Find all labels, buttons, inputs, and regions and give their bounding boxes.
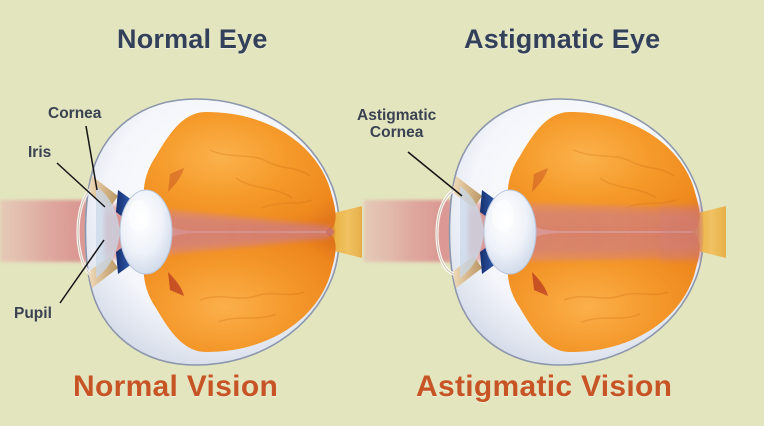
- label-astigmatic-cornea-line2: Cornea: [357, 124, 436, 141]
- diagram-canvas: Normal Eye Astigmatic Eye Cornea Iris Pu…: [0, 0, 764, 426]
- panel-title-normal-eye: Normal Eye: [117, 24, 268, 55]
- label-pupil: Pupil: [14, 305, 52, 322]
- label-cornea: Cornea: [48, 105, 101, 122]
- caption-normal-vision: Normal Vision: [73, 370, 278, 404]
- label-astigmatic-cornea-line1: Astigmatic: [357, 107, 436, 124]
- label-iris: Iris: [28, 144, 51, 161]
- eye-comparison-illustration: [0, 0, 764, 426]
- caption-astigmatic-vision: Astigmatic Vision: [416, 370, 672, 404]
- panel-title-astigmatic-eye: Astigmatic Eye: [464, 24, 660, 55]
- label-astigmatic-cornea: Astigmatic Cornea: [357, 107, 436, 141]
- lens-normal: [120, 190, 172, 274]
- lens-astigmatic: [484, 190, 536, 274]
- focal-point-normal: [326, 228, 334, 236]
